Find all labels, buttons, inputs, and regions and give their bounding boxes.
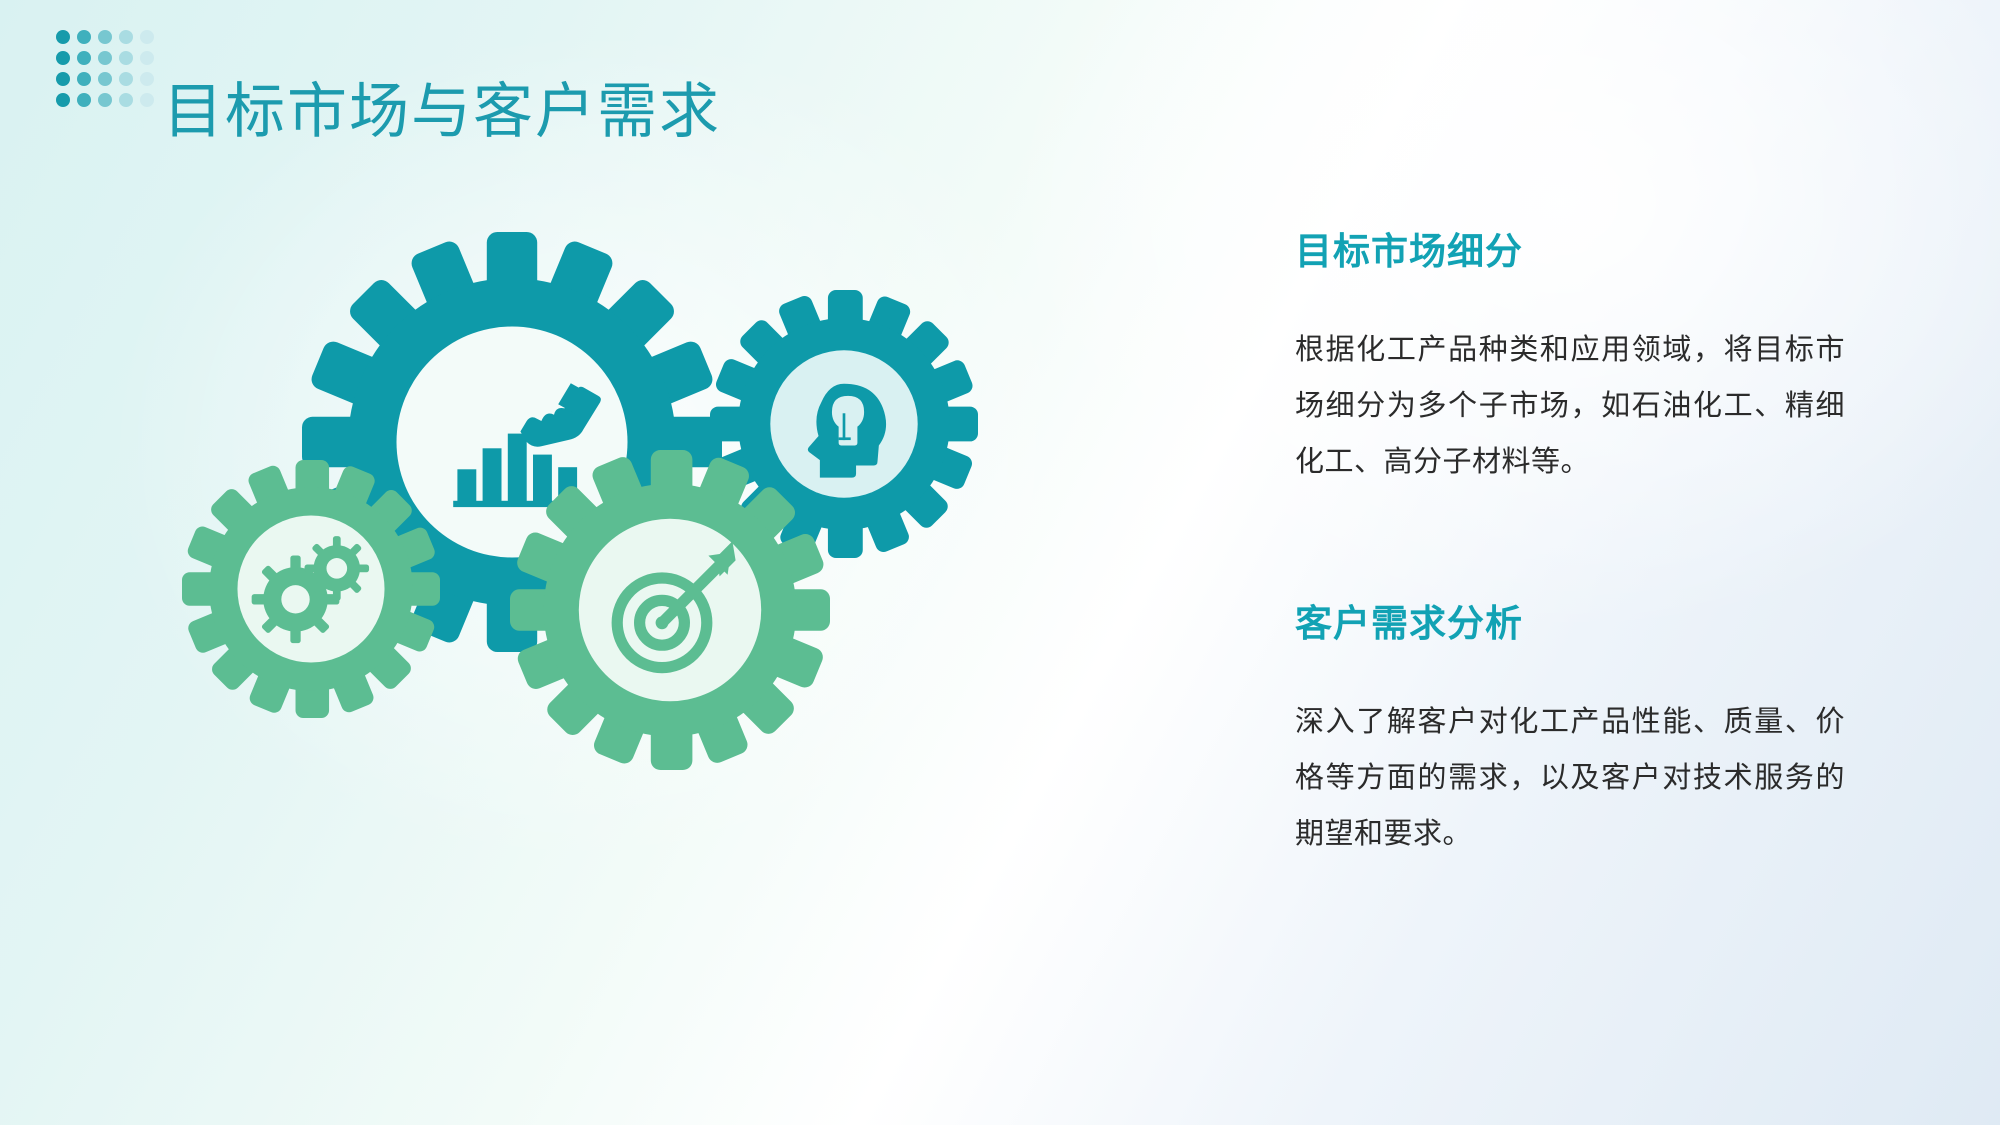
dot [56, 93, 70, 107]
dot [140, 93, 154, 107]
section-heading-target-market-segmentation: 目标市场细分 [1295, 230, 1845, 276]
section-heading-customer-needs-analysis: 客户需求分析 [1295, 602, 1845, 648]
dot [56, 72, 70, 86]
gear-target-svg [510, 450, 830, 770]
dot [119, 30, 133, 44]
slide-canvas: 目标市场与客户需求 [0, 0, 2000, 1125]
page-title: 目标市场与客户需求 [163, 76, 721, 148]
dot [98, 72, 112, 86]
section-body-target-market-segmentation: 根据化工产品种类和应用领域，将目标市场细分为多个子市场，如石油化工、精细化工、高… [1295, 322, 1845, 490]
gear-cogs [182, 460, 440, 718]
dot [77, 93, 91, 107]
dot [119, 51, 133, 65]
gear-target [510, 450, 830, 770]
content-column: 目标市场细分 根据化工产品种类和应用领域，将目标市场细分为多个子市场，如石油化工… [1285, 230, 1845, 862]
dot-grid [56, 30, 158, 111]
dot [77, 30, 91, 44]
dot [119, 93, 133, 107]
gear-cluster-illustration [180, 210, 1000, 890]
dot [119, 72, 133, 86]
dot [140, 72, 154, 86]
dot [77, 51, 91, 65]
dot [56, 30, 70, 44]
gear-cogs-svg [182, 460, 440, 718]
dot [98, 93, 112, 107]
dot [98, 30, 112, 44]
dot [56, 51, 70, 65]
dot [140, 51, 154, 65]
dot [98, 51, 112, 65]
section-body-customer-needs-analysis: 深入了解客户对化工产品性能、质量、价格等方面的需求，以及客户对技术服务的期望和要… [1295, 694, 1845, 862]
dot [140, 30, 154, 44]
dot [77, 72, 91, 86]
